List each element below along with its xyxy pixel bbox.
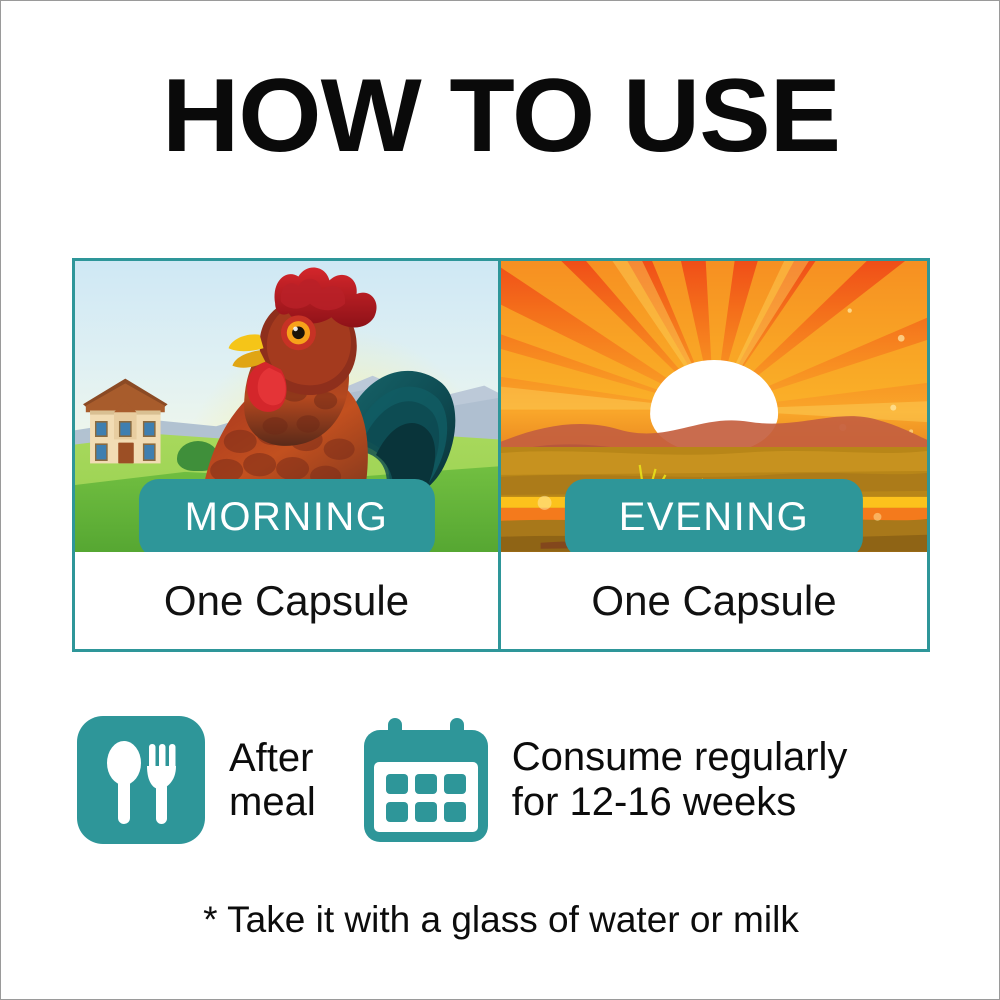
calendar-tile <box>362 716 490 844</box>
after-meal-label: After meal <box>229 736 316 824</box>
duration-label: Consume regularly for 12-16 weeks <box>512 735 848 825</box>
spoon-fork-icon <box>77 716 205 844</box>
infographic-canvas: HOW TO USE <box>0 0 1000 1000</box>
calendar-icon <box>362 716 490 844</box>
spoon-fork-tile <box>77 716 205 844</box>
instruction-duration: Consume regularly for 12-16 weeks <box>362 716 848 844</box>
footnote: * Take it with a glass of water or milk <box>1 899 1000 941</box>
morning-badge: MORNING <box>138 479 434 552</box>
table-row-images: MORNING <box>75 261 927 552</box>
morning-dose: One Capsule <box>75 552 501 649</box>
instructions-row: After meal <box>77 716 947 856</box>
morning-scene-cell: MORNING <box>75 261 501 552</box>
evening-scene-cell: EVENING <box>501 261 927 552</box>
page-title: HOW TO USE <box>0 61 1000 171</box>
table-row-dose: One Capsule One Capsule <box>75 552 927 649</box>
instruction-after-meal: After meal <box>77 716 316 844</box>
dosage-table: MORNING <box>72 258 930 652</box>
evening-dose: One Capsule <box>501 552 927 649</box>
evening-badge: EVENING <box>565 479 863 552</box>
